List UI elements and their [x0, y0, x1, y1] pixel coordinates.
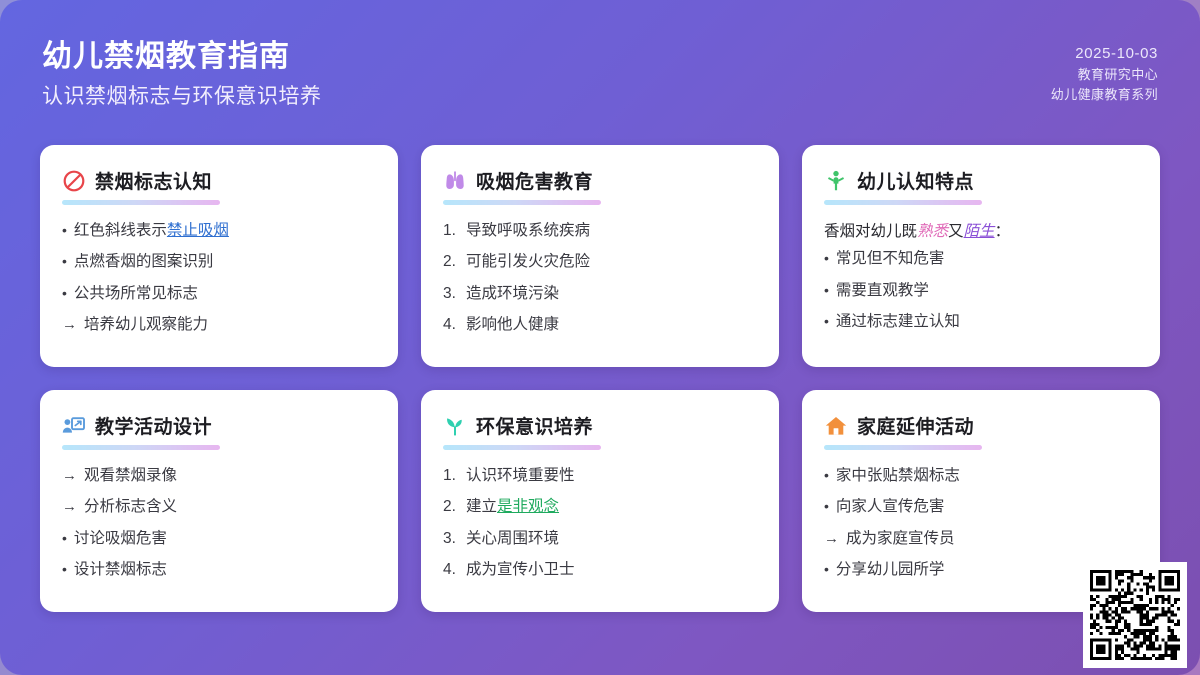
page-title: 幼儿禁烟教育指南: [42, 38, 322, 76]
list-item: •点燃香烟的图案识别: [62, 251, 376, 273]
list-item: →观看禁烟录像: [62, 465, 376, 487]
card-title: 家庭延伸活动: [857, 412, 974, 439]
list-item-marker: →: [824, 528, 839, 550]
card-header: 环保意识培养: [443, 412, 757, 439]
list-item: •讨论吸烟危害: [62, 528, 376, 550]
list-item-marker: •: [824, 311, 829, 333]
card-body: •红色斜线表示禁止吸烟•点燃香烟的图案识别•公共场所常见标志→培养幼儿观察能力: [62, 220, 376, 337]
list-item: •公共场所常见标志: [62, 283, 376, 305]
list-item-text: 通过标志建立认知: [836, 311, 1138, 333]
card-title-underline: [62, 200, 220, 205]
text-segment: 建立: [466, 498, 497, 515]
list-item-text: 认识环境重要性: [466, 465, 757, 487]
list-item: 4.影响他人健康: [443, 314, 757, 336]
text-segment: 家中张贴禁烟标志: [836, 467, 960, 484]
card-title-underline: [824, 445, 982, 450]
card-header: 教学活动设计: [62, 412, 376, 439]
list-item: →成为家庭宣传员: [824, 528, 1138, 550]
text-segment: 可能引发火灾危险: [466, 253, 590, 270]
card-title-underline: [443, 445, 601, 450]
list-item: •向家人宣传危害: [824, 496, 1138, 518]
content-card[interactable]: 吸烟危害教育1.导致呼吸系统疾病2.可能引发火灾危险3.造成环境污染4.影响他人…: [421, 145, 779, 367]
list-item: 1.认识环境重要性: [443, 465, 757, 487]
header-series: 幼儿健康教育系列: [1051, 85, 1158, 105]
text-segment: 向家人宣传危害: [836, 498, 945, 515]
card-header: 禁烟标志认知: [62, 167, 376, 194]
card-header: 吸烟危害教育: [443, 167, 757, 194]
text-segment: 观看禁烟录像: [84, 467, 177, 484]
card-grid: 禁烟标志认知•红色斜线表示禁止吸烟•点燃香烟的图案识别•公共场所常见标志→培养幼…: [40, 145, 1160, 615]
list-item-marker: 1.: [443, 465, 459, 487]
list-item-marker: 4.: [443, 314, 459, 336]
slide-root: 幼儿禁烟教育指南 认识禁烟标志与环保意识培养 2025-10-03 教育研究中心…: [0, 0, 1200, 675]
list-item-text: 观看禁烟录像: [84, 465, 376, 487]
list-item: 2.建立是非观念: [443, 496, 757, 518]
card-title: 幼儿认知特点: [857, 167, 974, 194]
list-item-marker: •: [824, 496, 829, 518]
card-body: 1.认识环境重要性2.建立是非观念3.关心周围环境4.成为宣传小卫士: [443, 465, 757, 582]
header-organization: 教育研究中心: [1051, 65, 1158, 85]
intro-segment: 陌生: [964, 223, 995, 240]
text-segment: 关心周围环境: [466, 530, 559, 547]
card-body: 香烟对幼儿既熟悉又陌生：•常见但不知危害•需要直观教学•通过标志建立认知: [824, 220, 1138, 334]
intro-segment: 又: [948, 223, 964, 240]
qr-code-image: [1090, 569, 1180, 661]
intro-segment: 熟悉: [917, 223, 948, 240]
text-segment: 常见但不知危害: [836, 250, 945, 267]
card-title-underline: [824, 200, 982, 205]
text-segment: 分享幼儿园所学: [836, 561, 945, 578]
list-item: •需要直观教学: [824, 280, 1138, 302]
list-item-text: 红色斜线表示禁止吸烟: [74, 220, 376, 242]
list-item-marker: 1.: [443, 220, 459, 242]
card-title: 环保意识培养: [476, 412, 593, 439]
text-segment: 分析标志含义: [84, 498, 177, 515]
card-title: 教学活动设计: [95, 412, 212, 439]
list-item-marker: 3.: [443, 283, 459, 305]
text-segment: 红色斜线表示: [74, 222, 167, 239]
text-segment: 成为宣传小卫士: [466, 561, 575, 578]
no-smoking-icon: [62, 169, 86, 193]
list-item: •家中张贴禁烟标志: [824, 465, 1138, 487]
slide-header: 幼儿禁烟教育指南 认识禁烟标志与环保意识培养 2025-10-03 教育研究中心…: [0, 0, 1200, 135]
lungs-icon: [443, 169, 467, 193]
list-item: 4.成为宣传小卫士: [443, 559, 757, 581]
intro-segment: 香烟对幼儿既: [824, 223, 917, 240]
list-item-text: 讨论吸烟危害: [74, 528, 376, 550]
list-item-text: 需要直观教学: [836, 280, 1138, 302]
list-item-text: 常见但不知危害: [836, 248, 1138, 270]
list-item-text: 造成环境污染: [466, 283, 757, 305]
card-title-underline: [62, 445, 220, 450]
seedling-icon: [443, 414, 467, 438]
list-item-text: 建立是非观念: [466, 496, 757, 518]
teaching-screen-icon: [62, 414, 86, 438]
content-card[interactable]: 幼儿认知特点香烟对幼儿既熟悉又陌生：•常见但不知危害•需要直观教学•通过标志建立…: [802, 145, 1160, 367]
page-subtitle: 认识禁烟标志与环保意识培养: [42, 80, 322, 110]
text-segment: 认识环境重要性: [466, 467, 575, 484]
card-header: 幼儿认知特点: [824, 167, 1138, 194]
text-segment: 通过标志建立认知: [836, 313, 960, 330]
list-item-text: 导致呼吸系统疾病: [466, 220, 757, 242]
header-meta: 2025-10-03 教育研究中心 幼儿健康教育系列: [1051, 42, 1158, 106]
text-segment: 公共场所常见标志: [74, 285, 198, 302]
list-item-marker: •: [824, 248, 829, 270]
list-item-marker: •: [824, 559, 829, 581]
qr-code[interactable]: [1083, 562, 1187, 668]
list-item-text: 向家人宣传危害: [836, 496, 1138, 518]
list-item: •常见但不知危害: [824, 248, 1138, 270]
text-segment: 造成环境污染: [466, 285, 559, 302]
card-title: 吸烟危害教育: [476, 167, 593, 194]
header-left: 幼儿禁烟教育指南 认识禁烟标志与环保意识培养: [42, 38, 322, 110]
list-item: •通过标志建立认知: [824, 311, 1138, 333]
list-item-marker: →: [62, 465, 77, 487]
list-item: •红色斜线表示禁止吸烟: [62, 220, 376, 242]
content-card[interactable]: 教学活动设计→观看禁烟录像→分析标志含义•讨论吸烟危害•设计禁烟标志: [40, 390, 398, 612]
card-title-underline: [443, 200, 601, 205]
list-item-marker: •: [62, 559, 67, 581]
list-item-marker: •: [62, 220, 67, 242]
list-item-marker: →: [62, 496, 77, 518]
text-segment: 设计禁烟标志: [74, 561, 167, 578]
list-item-marker: •: [62, 528, 67, 550]
list-item-text: 家中张贴禁烟标志: [836, 465, 1138, 487]
header-date: 2025-10-03: [1051, 42, 1158, 65]
card-body: →观看禁烟录像→分析标志含义•讨论吸烟危害•设计禁烟标志: [62, 465, 376, 582]
list-item-marker: •: [62, 283, 67, 305]
list-item: 3.关心周围环境: [443, 528, 757, 550]
list-item: 2.可能引发火灾危险: [443, 251, 757, 273]
list-item-marker: •: [824, 465, 829, 487]
list-item-text: 关心周围环境: [466, 528, 757, 550]
text-segment: 培养幼儿观察能力: [84, 316, 208, 333]
list-item-marker: 3.: [443, 528, 459, 550]
child-icon: [824, 169, 848, 193]
text-segment: 禁止吸烟: [167, 222, 229, 239]
text-segment: 影响他人健康: [466, 316, 559, 333]
list-item-text: 影响他人健康: [466, 314, 757, 336]
list-item-text: 点燃香烟的图案识别: [74, 251, 376, 273]
list-item-text: 分析标志含义: [84, 496, 376, 518]
content-card[interactable]: 禁烟标志认知•红色斜线表示禁止吸烟•点燃香烟的图案识别•公共场所常见标志→培养幼…: [40, 145, 398, 367]
text-segment: 成为家庭宣传员: [846, 530, 955, 547]
list-item-marker: •: [62, 251, 67, 273]
list-item-text: 可能引发火灾危险: [466, 251, 757, 273]
list-item: 3.造成环境污染: [443, 283, 757, 305]
text-segment: 需要直观教学: [836, 282, 929, 299]
text-segment: 导致呼吸系统疾病: [466, 222, 590, 239]
home-icon: [824, 414, 848, 438]
list-item-text: 培养幼儿观察能力: [84, 314, 376, 336]
content-card[interactable]: 环保意识培养1.认识环境重要性2.建立是非观念3.关心周围环境4.成为宣传小卫士: [421, 390, 779, 612]
list-item: •设计禁烟标志: [62, 559, 376, 581]
list-item-marker: 2.: [443, 251, 459, 273]
card-intro: 香烟对幼儿既熟悉又陌生：: [824, 220, 1138, 243]
list-item-text: 成为宣传小卫士: [466, 559, 757, 581]
text-segment: 是非观念: [497, 498, 559, 515]
list-item: →分析标志含义: [62, 496, 376, 518]
list-item: →培养幼儿观察能力: [62, 314, 376, 336]
intro-segment: ：: [995, 223, 1011, 240]
list-item-marker: •: [824, 280, 829, 302]
card-header: 家庭延伸活动: [824, 412, 1138, 439]
text-segment: 讨论吸烟危害: [74, 530, 167, 547]
list-item-text: 成为家庭宣传员: [846, 528, 1138, 550]
card-body: 1.导致呼吸系统疾病2.可能引发火灾危险3.造成环境污染4.影响他人健康: [443, 220, 757, 337]
list-item-text: 公共场所常见标志: [74, 283, 376, 305]
list-item-marker: 2.: [443, 496, 459, 518]
list-item-text: 设计禁烟标志: [74, 559, 376, 581]
list-item-marker: 4.: [443, 559, 459, 581]
text-segment: 点燃香烟的图案识别: [74, 253, 214, 270]
card-title: 禁烟标志认知: [95, 167, 212, 194]
list-item-marker: →: [62, 314, 77, 336]
list-item: 1.导致呼吸系统疾病: [443, 220, 757, 242]
